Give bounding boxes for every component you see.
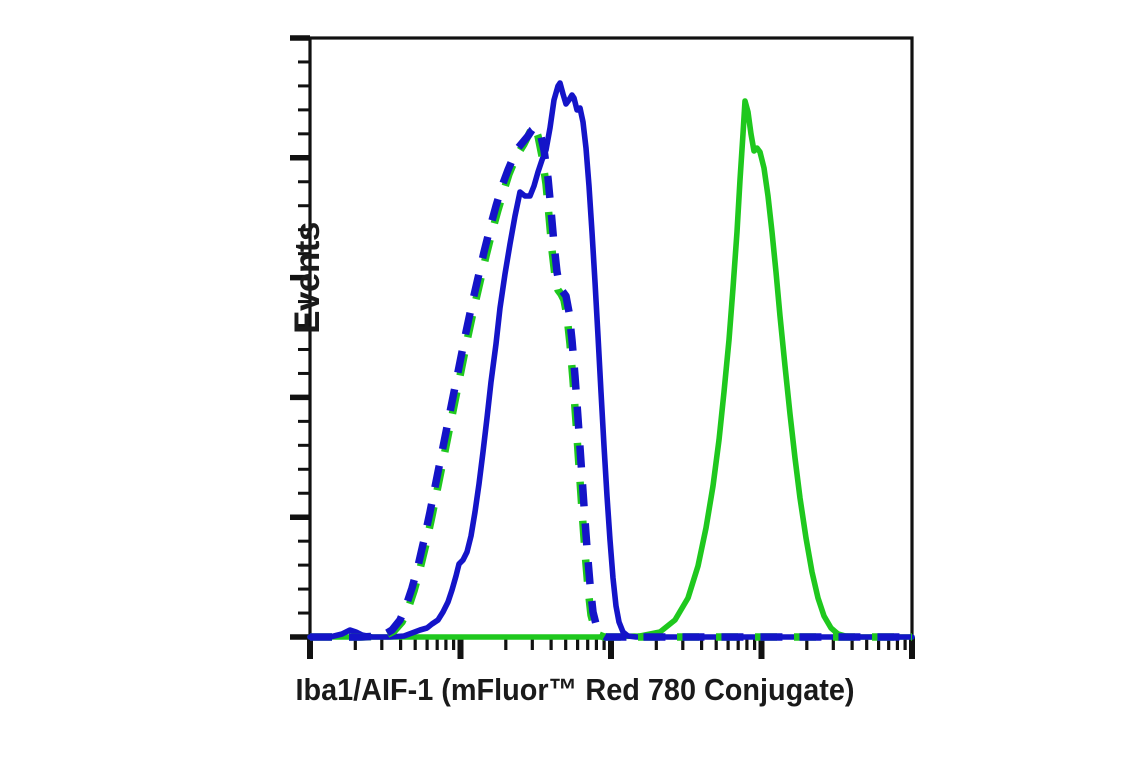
x-axis-label: Iba1/AIF-1 (mFluor™ Red 780 Conjugate) — [180, 672, 971, 708]
histogram-plot-area — [0, 0, 1141, 768]
flow-cytometry-histogram-figure: Events Iba1/AIF-1 (mFluor™ Red 780 Conju… — [0, 0, 1141, 768]
y-axis-label: Events — [278, 178, 338, 378]
